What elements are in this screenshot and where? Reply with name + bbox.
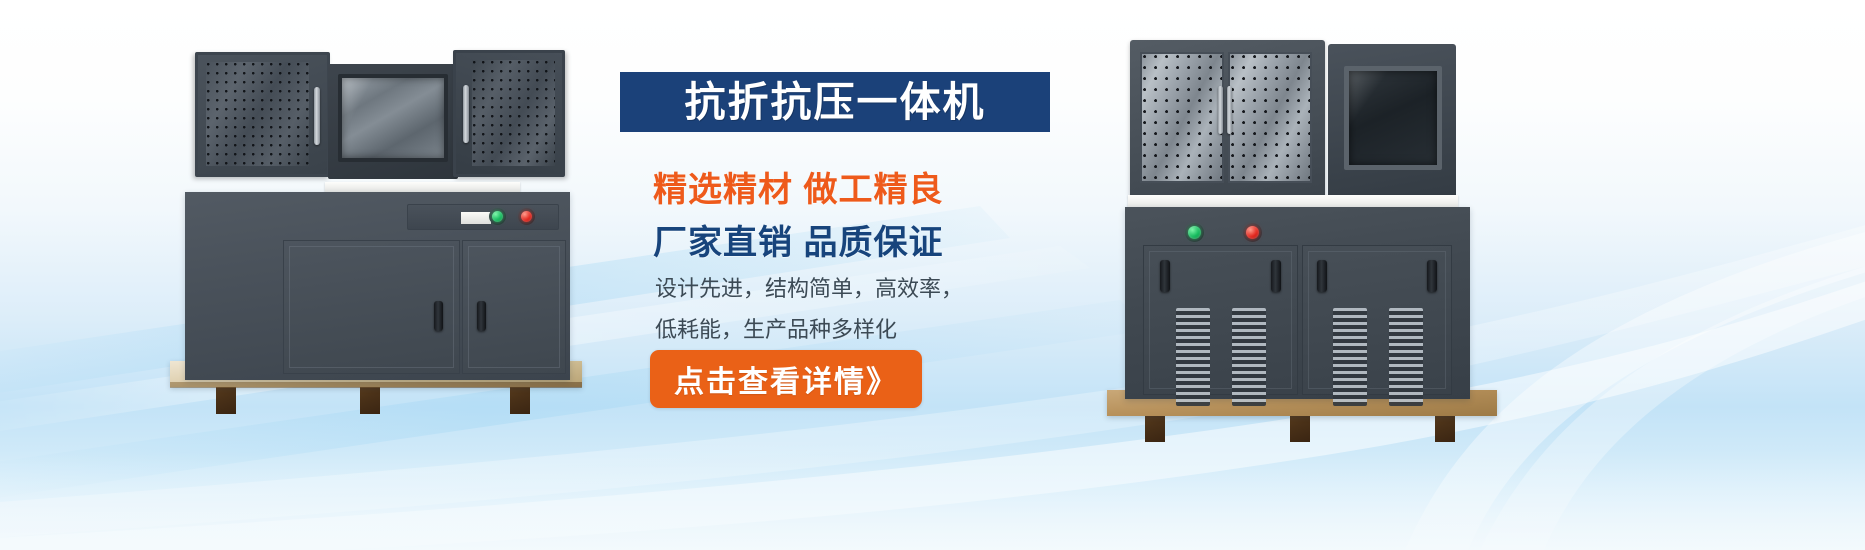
description-text: 设计先进，结构简单，高效率， 低耗能，生产品种多样化 bbox=[655, 268, 963, 350]
cabinet-handle bbox=[463, 85, 469, 143]
indicator-light-green bbox=[492, 211, 503, 222]
view-details-button[interactable]: 点击查看详情》 bbox=[650, 350, 922, 408]
description-line-1: 设计先进，结构简单，高效率， bbox=[655, 268, 963, 309]
monitor-screen-right bbox=[1344, 66, 1442, 170]
perforated-cabinet-upper-right bbox=[453, 50, 565, 177]
monitor-enclosure-left bbox=[328, 64, 458, 179]
door-bevel bbox=[1308, 251, 1446, 389]
louvered-door-left bbox=[1143, 245, 1298, 395]
cabinet-door-left bbox=[283, 240, 460, 374]
door-handle-left bbox=[1317, 260, 1327, 292]
monitor-screen-left bbox=[338, 74, 448, 162]
promo-copy-block: 抗折抗压一体机 精选精材 做工精良 厂家直销 品质保证 设计先进，结构简单，高效… bbox=[620, 72, 1100, 492]
door-handle-right bbox=[1427, 260, 1437, 292]
control-drawer bbox=[407, 204, 559, 230]
vent-louver bbox=[1176, 308, 1210, 406]
headline-orange: 精选精材 做工精良 bbox=[653, 162, 943, 211]
indicator-light-green bbox=[1188, 226, 1201, 239]
perforated-panel bbox=[472, 60, 555, 166]
cabinet-handle bbox=[314, 87, 320, 145]
indicator-light-red bbox=[1246, 226, 1259, 239]
door-handle-right bbox=[1271, 260, 1281, 292]
vent-louver bbox=[1232, 308, 1266, 406]
perforated-cabinet-top-right bbox=[1130, 40, 1325, 195]
door-bevel bbox=[289, 246, 454, 368]
headline-blue: 厂家直销 品质保证 bbox=[653, 215, 943, 264]
machine-body-left bbox=[185, 192, 570, 380]
perforated-cabinet-upper-left bbox=[195, 52, 330, 177]
cabinet-door-right bbox=[462, 240, 566, 374]
vent-louver bbox=[1389, 308, 1423, 406]
door-handle-left bbox=[1160, 260, 1170, 292]
machine-body-right bbox=[1125, 207, 1470, 399]
perforated-door-left bbox=[1140, 52, 1224, 183]
perforated-panel bbox=[206, 62, 309, 166]
page-title: 抗折抗压一体机 bbox=[685, 82, 986, 123]
monitor-enclosure-right bbox=[1328, 44, 1456, 195]
title-banner-bar: 抗折抗压一体机 bbox=[620, 72, 1050, 132]
description-line-2: 低耗能，生产品种多样化 bbox=[655, 309, 963, 350]
indicator-light-red bbox=[521, 211, 532, 222]
door-handle bbox=[477, 301, 486, 331]
drawer-label-plate bbox=[461, 212, 491, 224]
louvered-door-right bbox=[1302, 245, 1452, 395]
product-photo-right-machine bbox=[1115, 40, 1545, 428]
pallet-shadow-left bbox=[170, 382, 582, 388]
cabinet-handle-left bbox=[1218, 86, 1223, 134]
perforated-door-right bbox=[1228, 52, 1312, 183]
vent-louver bbox=[1333, 308, 1367, 406]
door-handle bbox=[434, 301, 443, 331]
promo-banner: 抗折抗压一体机 精选精材 做工精良 厂家直销 品质保证 设计先进，结构简单，高效… bbox=[0, 0, 1865, 550]
cabinet-handle-right bbox=[1227, 86, 1232, 134]
product-photo-left-machine bbox=[170, 46, 590, 421]
view-details-button-label: 点击查看详情》 bbox=[674, 357, 898, 401]
